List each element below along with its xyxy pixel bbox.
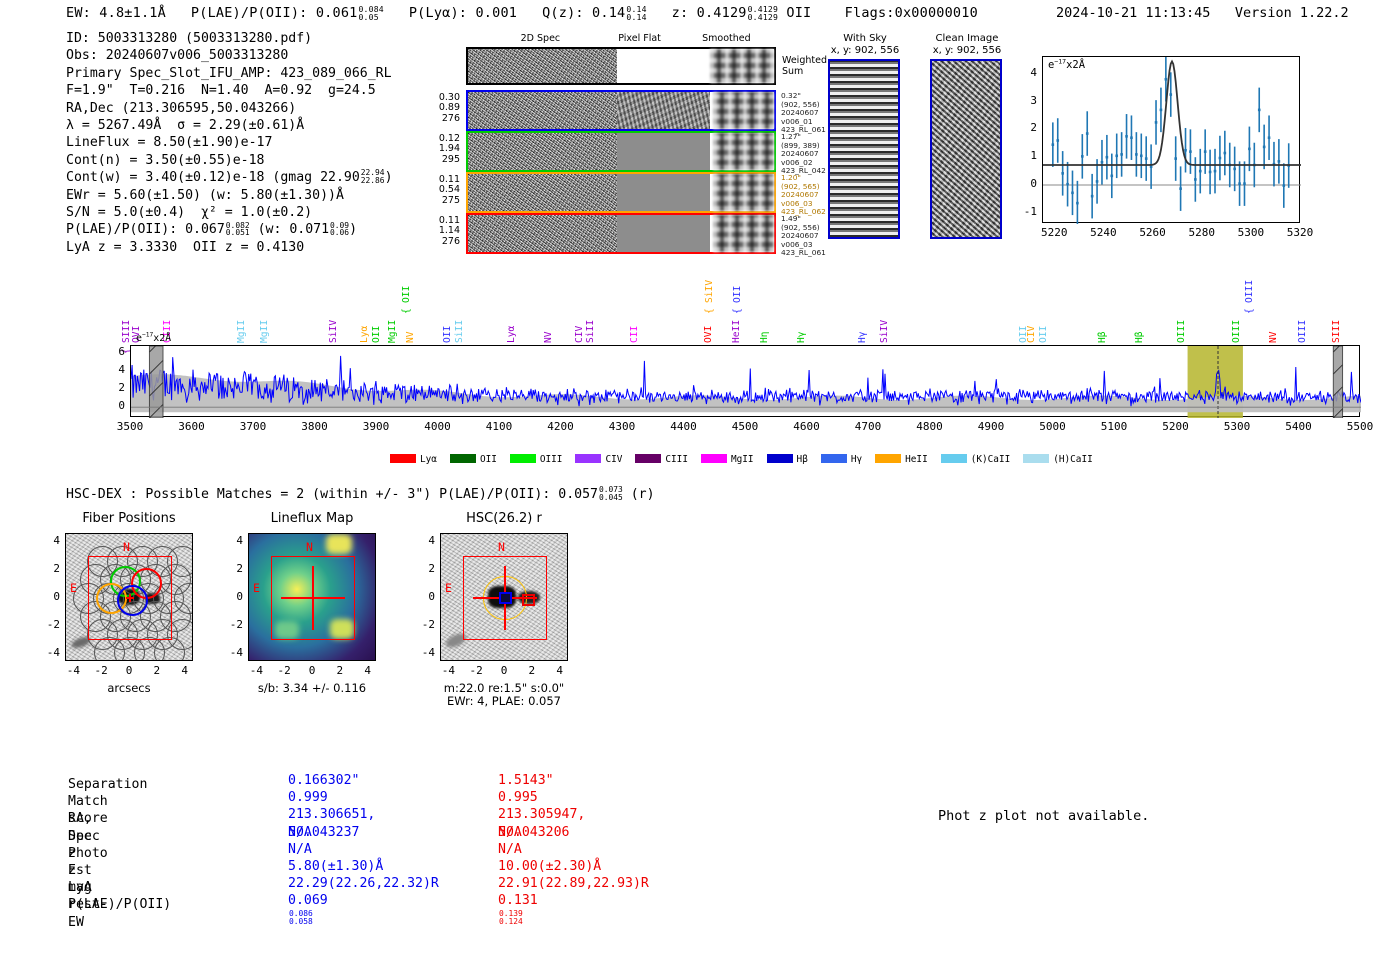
match-col2-value-3: N/A — [498, 824, 522, 841]
aperture-box-2 — [463, 556, 546, 639]
match-label-6: mag — [68, 879, 92, 896]
cutout-2-ytick-0: 0 — [414, 590, 435, 603]
compass-n-2: N — [498, 540, 505, 554]
match-col2-value-5: 10.00(±2.30)Å — [498, 858, 601, 875]
match-col1-value-5: 5.80(±1.30)Å — [288, 858, 383, 875]
cutout-1-ytick-2: 2 — [222, 562, 243, 575]
cutout-subtitle-2: m:22.0 re:1.5" s:0.0"EWr: 4, PLAE: 0.057 — [395, 682, 613, 708]
compass-e-2: E — [445, 581, 452, 595]
match-col1-plae-range: 0.0860.058 — [289, 910, 313, 926]
cutout-2-xtick-4: 4 — [540, 664, 580, 677]
compass-e-1: E — [253, 581, 260, 595]
cutout-0-ytick-4: 4 — [39, 534, 60, 547]
cutout-2-ytick--4: -4 — [414, 646, 435, 659]
compass-e-0: E — [70, 581, 77, 595]
match-label-7: P(LAE)/P(OII) — [68, 896, 171, 913]
cutout-sublabel-2: EWr: 4, PLAE: 0.057 — [395, 695, 613, 708]
cutout-title-2: HSC(26.2) r — [410, 511, 598, 526]
cutout-xlabel-1: s/b: 3.34 +/- 0.116 — [203, 682, 421, 695]
cutout-0-xtick-4: 4 — [165, 664, 205, 677]
cutout-1-ytick--4: -4 — [222, 646, 243, 659]
cutout-panel-group: Fiber PositionsNE-4-2024420-2-4arcsecsLi… — [0, 0, 1400, 760]
aperture-box-1 — [271, 556, 354, 639]
match-col2-value-6: 22.91(22.89,22.93)R — [498, 875, 649, 892]
cutout-1-ytick-0: 0 — [222, 590, 243, 603]
compass-n-0: N — [123, 540, 130, 554]
match-col1-value-0: 0.166302" — [288, 772, 359, 789]
match-col1-value-6: 22.29(22.26,22.32)R — [288, 875, 439, 892]
match-col2-value-0: 1.5143" — [498, 772, 554, 789]
cutout-1-ytick--2: -2 — [222, 618, 243, 631]
cutout-0-ytick-0: 0 — [39, 590, 60, 603]
cutout-2-ytick--2: -2 — [414, 618, 435, 631]
cutout-2-ytick-2: 2 — [414, 562, 435, 575]
match-col2-value-7: 0.1310.1390.124 — [498, 892, 538, 926]
cutout-title-0: Fiber Positions — [35, 511, 223, 526]
cutout-0-ytick-2: 2 — [39, 562, 60, 575]
cutout-1-ytick-4: 4 — [222, 534, 243, 547]
photoz-note: Phot z plot not available. — [938, 808, 1149, 824]
match-label-0: Separation — [68, 776, 147, 793]
match-col2-value-4: N/A — [498, 841, 522, 858]
match-col2-value-1: 0.995 — [498, 789, 538, 806]
cutout-subtitle-1: s/b: 3.34 +/- 0.116 — [203, 682, 421, 695]
cutout-0-ytick--4: -4 — [39, 646, 60, 659]
cutout-0-ytick--2: -2 — [39, 618, 60, 631]
match-col1-value-1: 0.999 — [288, 789, 328, 806]
match-col2-plae-range: 0.1390.124 — [499, 910, 523, 926]
match-col1-value-4: N/A — [288, 841, 312, 858]
match-col1-value-3: N/A — [288, 824, 312, 841]
cutout-1-xtick-4: 4 — [348, 664, 388, 677]
aperture-box-0 — [88, 556, 171, 639]
compass-n-1: N — [306, 540, 313, 554]
lineflux-knot-n — [326, 534, 352, 554]
cutout-title-1: Lineflux Map — [218, 511, 406, 526]
match-col1-value-7: 0.0690.0860.058 — [288, 892, 328, 926]
cutout-2-ytick-4: 4 — [414, 534, 435, 547]
